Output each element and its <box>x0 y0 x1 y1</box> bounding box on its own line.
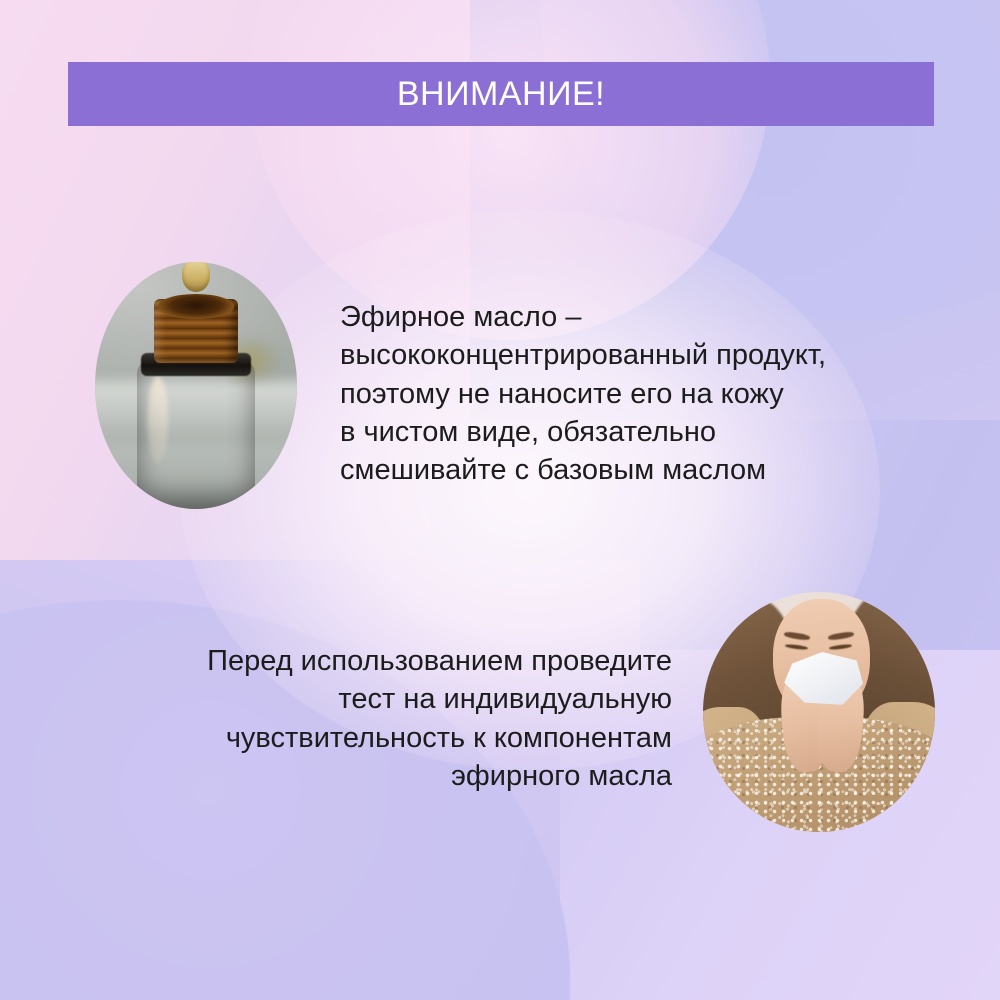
oil-bottle-photo <box>95 262 297 509</box>
oil-bottle-opening <box>158 294 235 319</box>
tip-2-text: Перед использованием проведите тест на и… <box>72 642 672 795</box>
oil-bottle-scene <box>95 262 297 509</box>
attention-banner-title: ВНИМАНИЕ! <box>397 77 605 111</box>
attention-banner: ВНИМАНИЕ! <box>68 62 934 126</box>
poster-canvas: ВНИМАНИЕ! Эфирное масло – высококонцентр… <box>0 0 1000 1000</box>
tip-1-text: Эфирное масло – высококонцентрированный … <box>340 298 940 489</box>
oil-bottle-glass-highlight <box>148 376 168 465</box>
oil-drop <box>182 262 210 292</box>
sneezing-woman-photo <box>703 592 935 832</box>
